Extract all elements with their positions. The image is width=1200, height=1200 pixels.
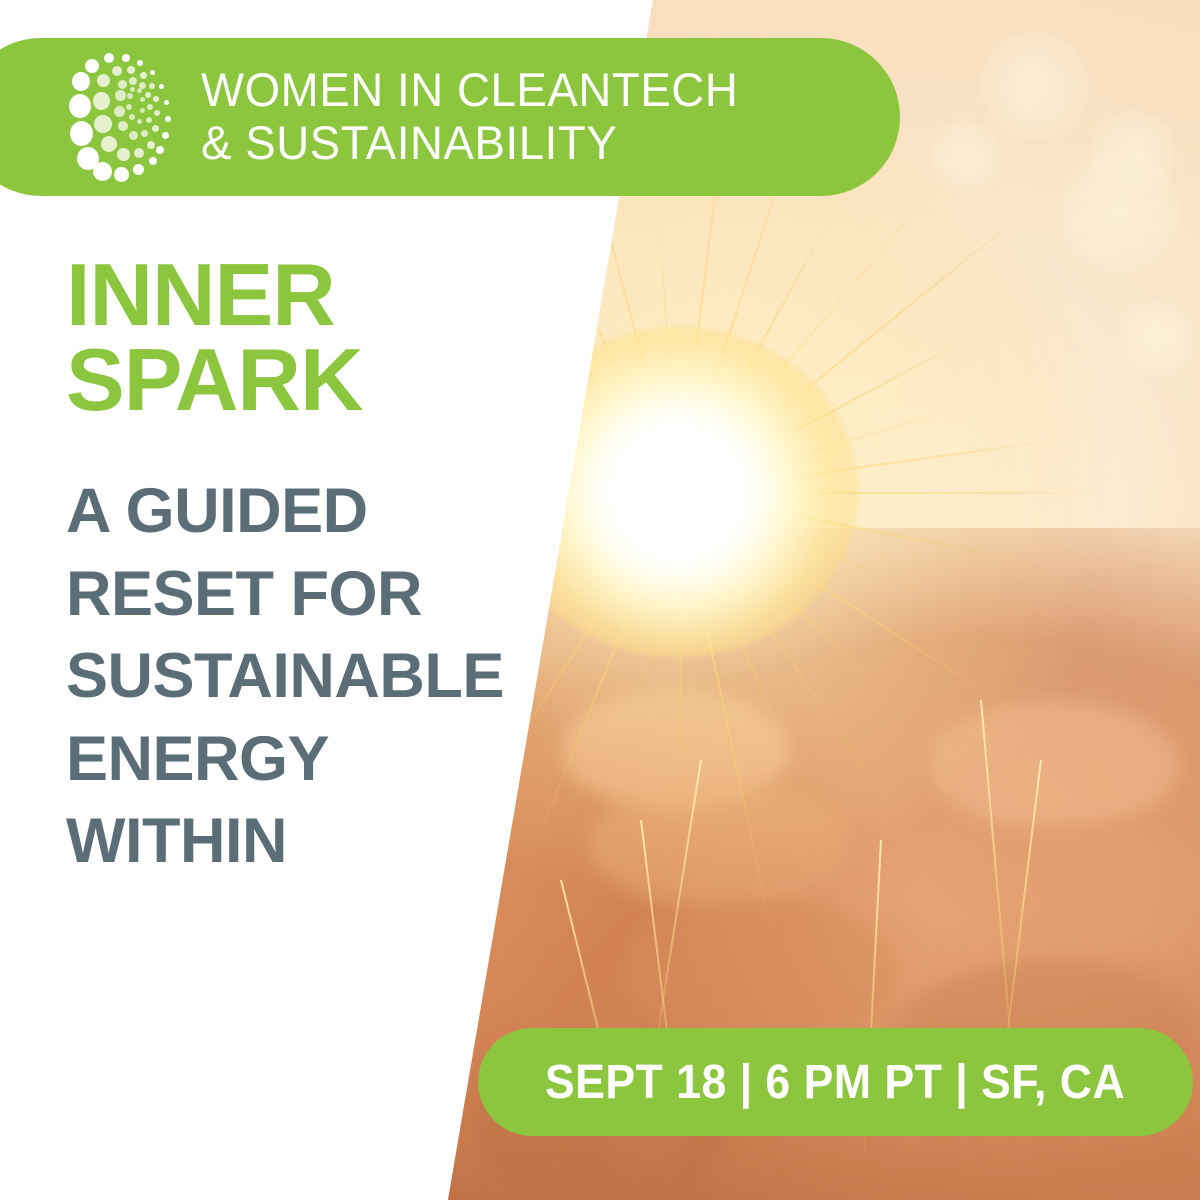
sparkler-core — [498, 327, 858, 657]
page-subtitle: A GUIDED RESET FOR SUSTAINABLE ENERGY WI… — [66, 470, 536, 883]
brand-header-pill: WOMEN IN CLEANTECH & SUSTAINABILITY — [0, 38, 900, 196]
page-title: INNER SPARK — [66, 252, 486, 423]
event-details-pill: SEPT 18 | 6 PM PT | SF, CA — [478, 1028, 1193, 1136]
event-details-text: SEPT 18 | 6 PM PT | SF, CA — [545, 1055, 1125, 1110]
event-poster: WOMEN IN CLEANTECH & SUSTAINABILITY INNE… — [0, 0, 1200, 1200]
organization-name: WOMEN IN CLEANTECH & SUSTAINABILITY — [201, 64, 738, 169]
spiral-dots-logo-icon — [67, 58, 179, 176]
